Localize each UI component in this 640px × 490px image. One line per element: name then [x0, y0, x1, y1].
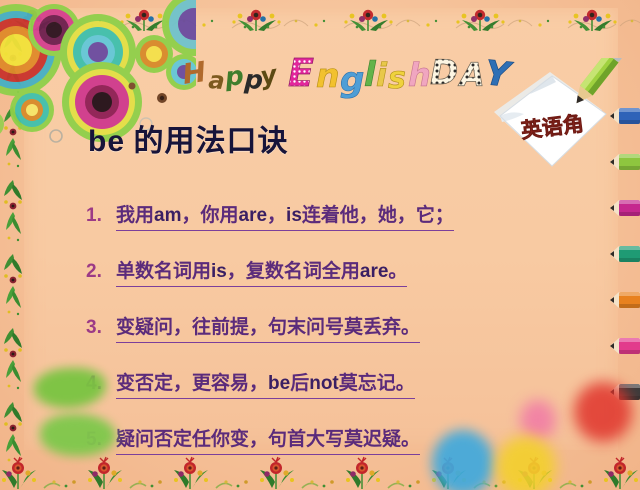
- svg-text:n: n: [316, 56, 340, 95]
- svg-text:E: E: [288, 51, 314, 95]
- verse-list: 1. 我用am，你用are，is连着他，她，它； 2. 单数名词用is，复数名词…: [86, 204, 556, 484]
- verse-number: 1.: [86, 205, 116, 227]
- verse-number: 5.: [86, 429, 116, 451]
- svg-text:g: g: [340, 60, 364, 100]
- page-title: be 的用法口诀: [88, 116, 289, 160]
- verse-text: 单数名词用is，复数名词全用are。: [116, 260, 407, 287]
- list-item: 2. 单数名词用is，复数名词全用are。: [86, 260, 556, 316]
- verse-text: 变疑问，往前提，句末问号莫丢弃。: [116, 316, 420, 343]
- verse-text: 疑问否定任你变，句首大写莫迟疑。: [116, 428, 420, 455]
- svg-text:y: y: [258, 59, 281, 91]
- svg-text:s: s: [388, 61, 406, 96]
- verse-number: 4.: [86, 373, 116, 395]
- page-title-latin: be: [88, 125, 125, 158]
- list-item: 3. 变疑问，往前提，句末问号莫丢弃。: [86, 316, 556, 372]
- svg-text:D: D: [430, 53, 458, 93]
- list-item: 4. 变否定，更容易，be后not莫忘记。: [86, 372, 556, 428]
- verse-number: 3.: [86, 317, 116, 339]
- verse-text: 变否定，更容易，be后not莫忘记。: [116, 372, 415, 399]
- page-title-cjk: 的用法口诀: [125, 125, 289, 158]
- svg-text:a: a: [208, 66, 226, 95]
- list-item: 5. 疑问否定任你变，句首大写莫迟疑。: [86, 428, 556, 484]
- notepad-pencil-graphic: 英语角: [478, 58, 640, 174]
- slide-canvas: H a p p y E n g l i s h D A Y: [0, 0, 640, 490]
- svg-text:h: h: [408, 56, 431, 94]
- verse-text: 我用am，你用are，is连着他，她，它；: [116, 204, 454, 231]
- svg-text:p: p: [223, 61, 246, 93]
- svg-text:i: i: [376, 56, 388, 94]
- verse-number: 2.: [86, 261, 116, 283]
- svg-text:H: H: [182, 55, 208, 91]
- list-item: 1. 我用am，你用are，is连着他，她，它；: [86, 204, 556, 260]
